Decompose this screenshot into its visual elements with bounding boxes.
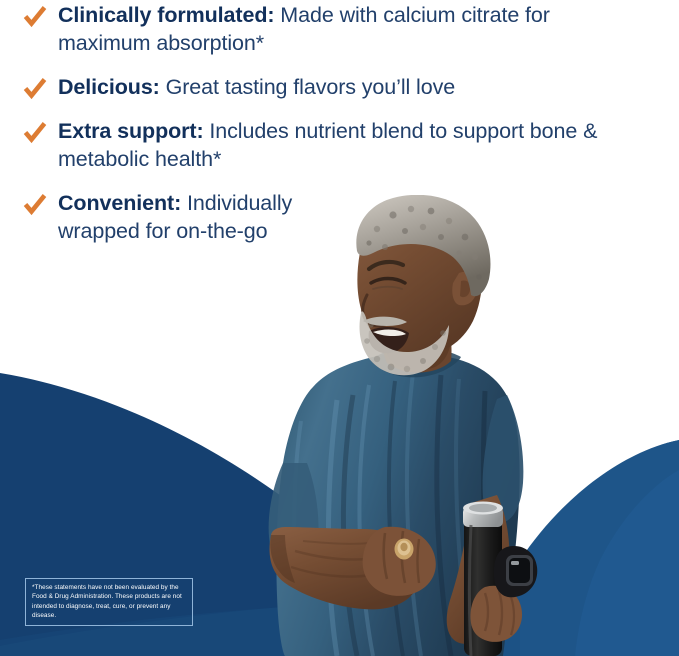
bullet-lead: Extra support: xyxy=(58,119,204,143)
disclaimer-text: *These statements have not been evaluate… xyxy=(32,584,182,619)
bullet-text: Delicious: Great tasting flavors you’ll … xyxy=(58,74,455,102)
check-icon xyxy=(22,120,48,146)
feature-bullet-list: Clinically formulated: Made with calcium… xyxy=(22,0,642,262)
promo-banner: Clinically formulated: Made with calcium… xyxy=(0,0,679,656)
bullet-lead: Clinically formulated: xyxy=(58,3,274,27)
bullet-item-delicious: Delicious: Great tasting flavors you’ll … xyxy=(22,74,642,102)
bullet-lead: Convenient: xyxy=(58,191,181,215)
check-icon xyxy=(22,192,48,218)
check-icon xyxy=(22,4,48,30)
bullet-item-convenient: Convenient: Individually wrapped for on-… xyxy=(22,190,642,246)
bullet-item-clinically-formulated: Clinically formulated: Made with calcium… xyxy=(22,2,642,58)
smartwatch xyxy=(494,546,537,597)
ring xyxy=(395,539,414,560)
check-icon xyxy=(22,76,48,102)
disclaimer-box: *These statements have not been evaluate… xyxy=(25,578,193,626)
hero-photo xyxy=(245,195,605,656)
bullet-lead: Delicious: xyxy=(58,75,160,99)
bullet-text: Extra support: Includes nutrient blend t… xyxy=(58,118,628,174)
bullet-text: Convenient: Individually wrapped for on-… xyxy=(58,190,338,246)
bullet-body: Great tasting flavors you’ll love xyxy=(160,75,455,99)
bullet-item-extra-support: Extra support: Includes nutrient blend t… xyxy=(22,118,642,174)
bullet-text: Clinically formulated: Made with calcium… xyxy=(58,2,628,58)
